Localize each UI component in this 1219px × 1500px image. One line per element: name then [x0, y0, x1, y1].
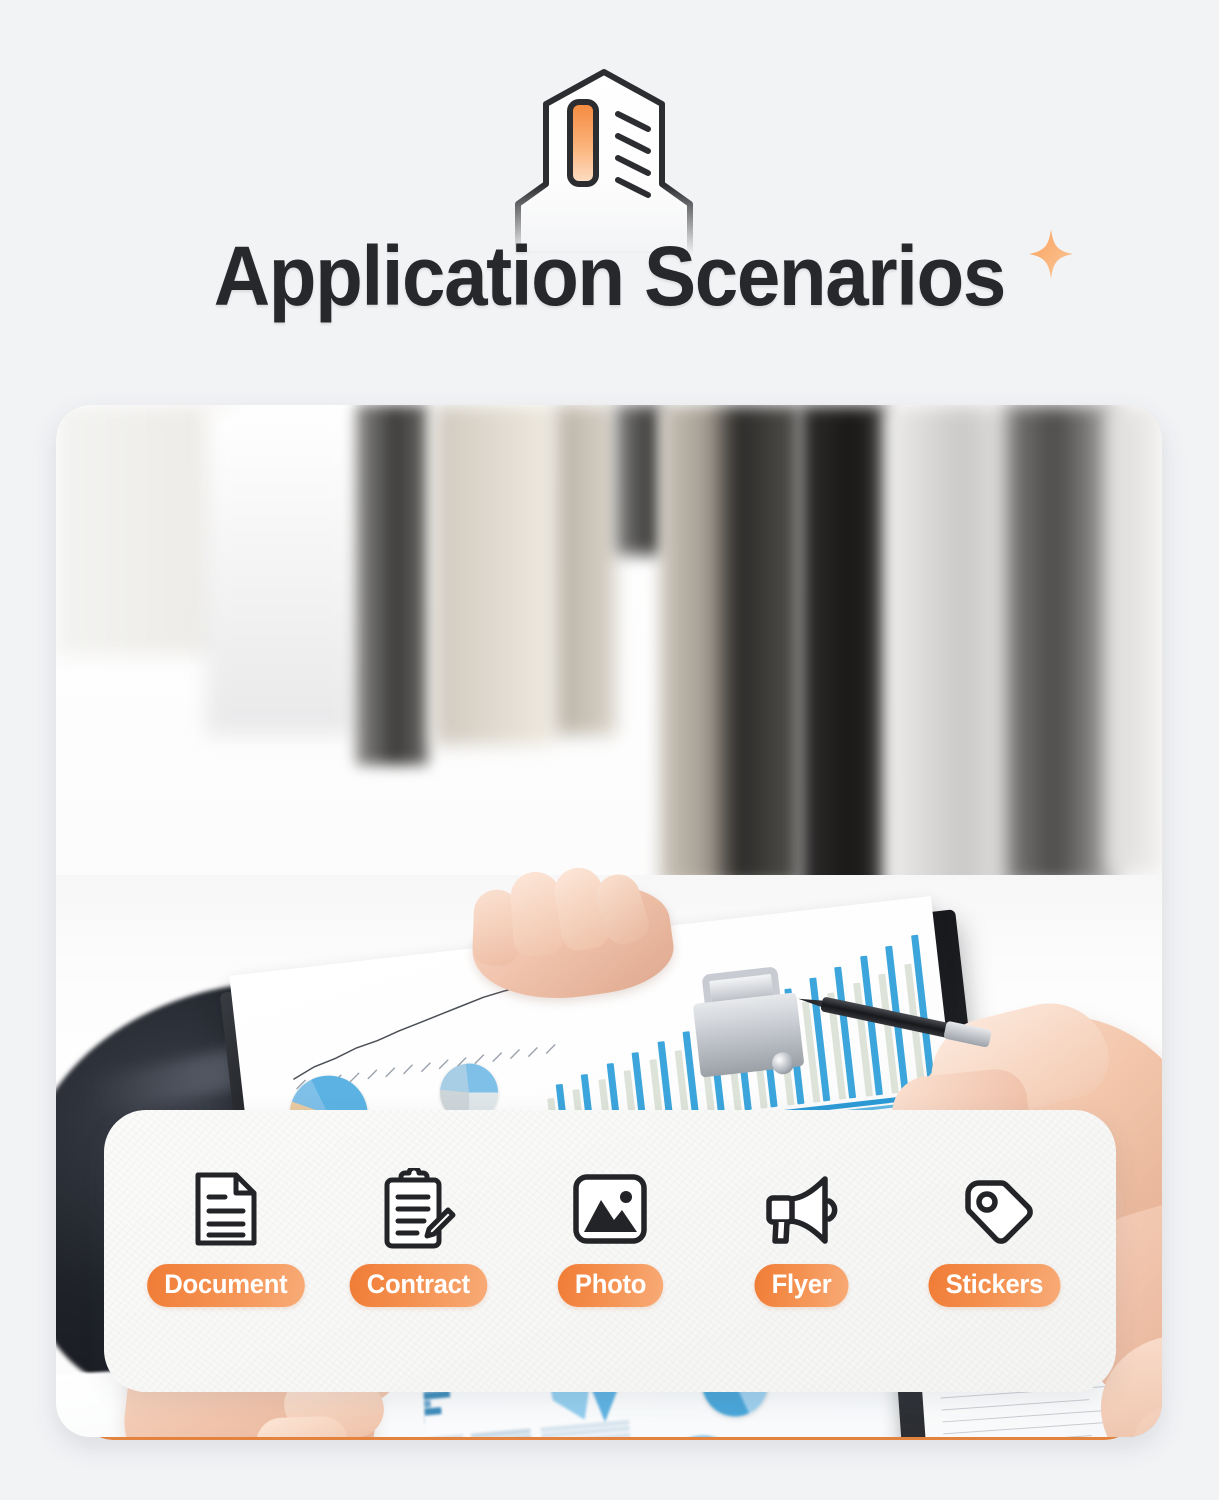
image-icon: [570, 1168, 650, 1250]
badge-contract[interactable]: Contract: [335, 1168, 501, 1307]
header: Application Scenarios: [0, 0, 1219, 400]
left-hand-holding-clipboard: [442, 845, 691, 1026]
badge-label-contract: Contract: [349, 1264, 486, 1307]
page-root: Application Scenarios: [0, 0, 1219, 1500]
bar-pair: [761, 1106, 783, 1108]
clipboard-pencil-icon: [379, 1168, 457, 1250]
badge-photo[interactable]: Photo: [527, 1168, 693, 1307]
sparkle-icon: [1028, 228, 1074, 280]
scenario-badge-card: Document Con: [104, 1110, 1116, 1392]
badge-label-flyer: Flyer: [755, 1264, 849, 1307]
clipboard-metal-clip: [690, 964, 807, 1095]
badge-document[interactable]: Document: [143, 1168, 309, 1307]
document-icon: [190, 1168, 262, 1250]
binder-paper-line: [944, 1435, 1092, 1437]
bar-pair: [813, 1100, 835, 1102]
page-title: Application Scenarios: [214, 234, 1005, 318]
desk-pie-3: [665, 1433, 740, 1437]
badge-label-stickers: Stickers: [928, 1264, 1060, 1307]
bar-pair: [840, 1097, 862, 1099]
badge-label-document: Document: [147, 1264, 304, 1307]
binder-paper-line: [942, 1399, 1090, 1410]
badge-label-photo: Photo: [557, 1264, 662, 1307]
megaphone-icon: [761, 1168, 843, 1250]
badge-flyer[interactable]: Flyer: [719, 1168, 885, 1307]
binder-paper-line: [943, 1421, 1117, 1434]
badge-list: Document Con: [104, 1168, 1116, 1307]
building-icon: [494, 64, 714, 254]
tag-icon: [955, 1168, 1033, 1250]
bar-pair: [787, 1103, 809, 1105]
badge-stickers[interactable]: Stickers: [911, 1168, 1077, 1307]
